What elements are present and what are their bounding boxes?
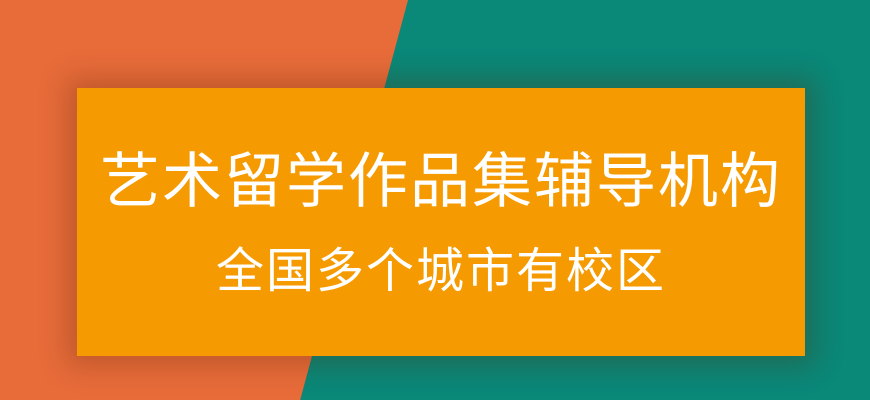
banner-subline: 全国多个城市有校区 [216, 248, 666, 296]
headline-card: 艺术留学作品集辅导机构 全国多个城市有校区 [77, 88, 805, 356]
banner-canvas: 艺术留学作品集辅导机构 全国多个城市有校区 [0, 0, 870, 400]
banner-headline: 艺术留学作品集辅导机构 [100, 152, 782, 212]
